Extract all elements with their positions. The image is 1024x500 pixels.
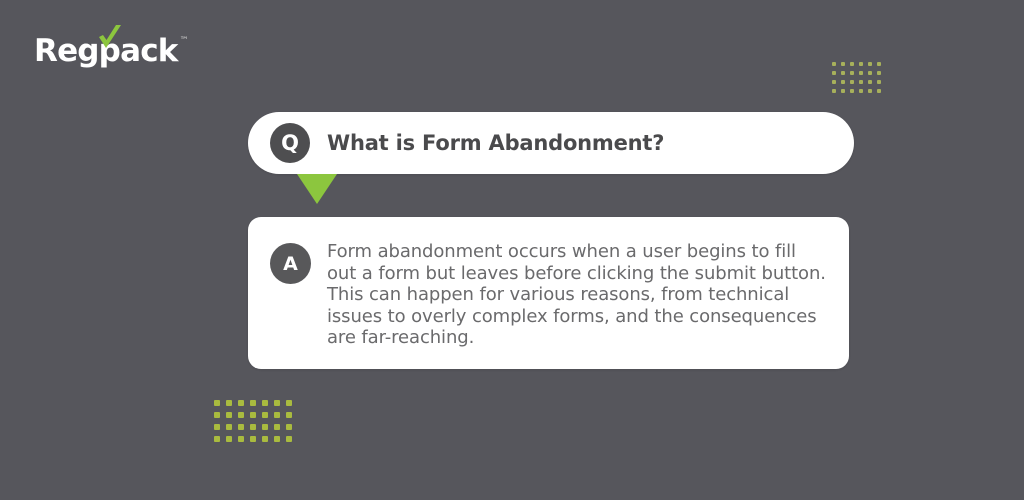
dot — [286, 436, 292, 442]
logo-trademark-symbol: ™ — [180, 35, 189, 47]
question-badge: Q — [270, 123, 310, 163]
dot — [832, 80, 836, 84]
dot — [250, 424, 256, 430]
dot — [832, 89, 836, 93]
dot — [214, 400, 220, 406]
dot — [877, 71, 881, 75]
dot — [286, 424, 292, 430]
dot — [868, 62, 872, 66]
dot — [841, 71, 845, 75]
regpack-logo: Regpack ™ — [34, 33, 189, 69]
dot — [841, 80, 845, 84]
dot — [238, 400, 244, 406]
dot — [226, 412, 232, 418]
dot — [850, 71, 854, 75]
dot — [859, 62, 863, 66]
dot — [262, 400, 268, 406]
dot — [226, 436, 232, 442]
dot — [274, 400, 280, 406]
dot-grid-bottom-left — [214, 400, 298, 448]
dot — [214, 436, 220, 442]
qa-block: Q What is Form Abandonment? A Form aband… — [248, 112, 854, 174]
dot — [214, 424, 220, 430]
dot — [238, 412, 244, 418]
dot — [262, 424, 268, 430]
dot — [274, 436, 280, 442]
dot — [868, 80, 872, 84]
dot — [859, 71, 863, 75]
dot — [262, 412, 268, 418]
answer-text: Form abandonment occurs when a user begi… — [327, 241, 829, 349]
triangle-pointer-icon — [297, 174, 337, 204]
dot-grid-top-right — [832, 62, 886, 98]
dot — [250, 436, 256, 442]
dot — [286, 400, 292, 406]
dot — [274, 412, 280, 418]
dot — [841, 89, 845, 93]
dot — [238, 436, 244, 442]
dot — [832, 62, 836, 66]
dot — [226, 400, 232, 406]
dot — [832, 71, 836, 75]
dot — [877, 62, 881, 66]
dot — [850, 80, 854, 84]
dot — [214, 412, 220, 418]
answer-card: A Form abandonment occurs when a user be… — [248, 217, 849, 369]
question-card: Q What is Form Abandonment? — [248, 112, 854, 174]
dot — [262, 436, 268, 442]
dot — [859, 80, 863, 84]
dot — [868, 89, 872, 93]
dot — [868, 71, 872, 75]
dot — [226, 424, 232, 430]
dot — [850, 89, 854, 93]
dot — [274, 424, 280, 430]
dot — [250, 412, 256, 418]
dot — [850, 62, 854, 66]
dot — [877, 80, 881, 84]
question-text: What is Form Abandonment? — [327, 131, 664, 155]
dot — [286, 412, 292, 418]
infographic-canvas: Regpack ™ Q What is Form Abandonment? A … — [0, 0, 1024, 500]
dot — [859, 89, 863, 93]
dot — [841, 62, 845, 66]
dot — [877, 89, 881, 93]
dot — [250, 400, 256, 406]
logo-wordmark-container: Regpack — [34, 33, 178, 69]
logo-wordmark-text: Regpack — [34, 33, 178, 69]
answer-badge: A — [270, 243, 311, 284]
dot — [238, 424, 244, 430]
